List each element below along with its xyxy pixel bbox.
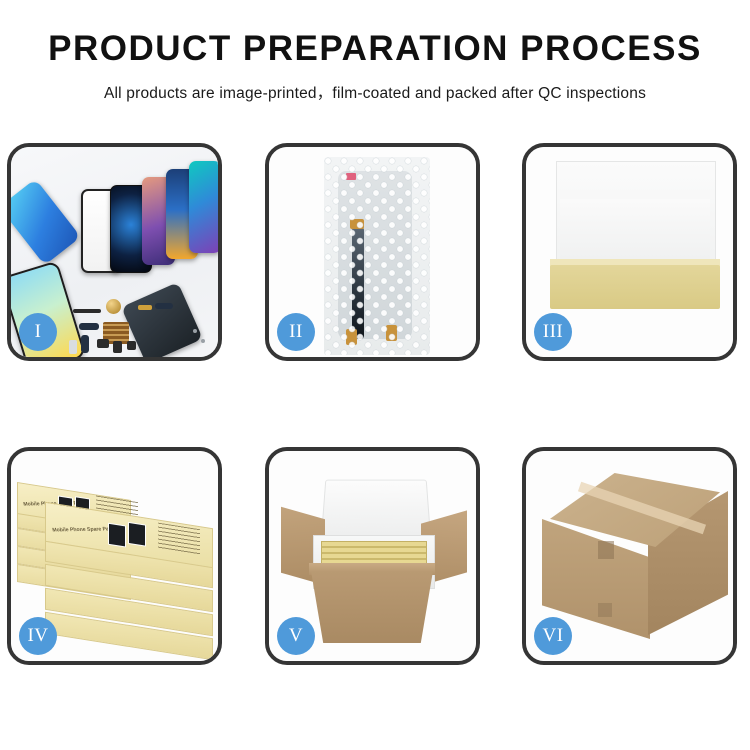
carton-body (311, 571, 433, 643)
sealed-carton (542, 473, 728, 641)
part-sim-tray-icon (69, 340, 77, 354)
step-6-image: VI (526, 451, 733, 661)
step-2-image: II (269, 147, 476, 357)
step-badge-2: II (277, 313, 315, 351)
kraft-box-tray (550, 265, 720, 309)
part-coin-icon (106, 299, 121, 314)
foam-box-lid (320, 480, 431, 544)
bubble-wrap-bag (324, 157, 430, 355)
page-title: PRODUCT PREPARATION PROCESS (0, 30, 750, 69)
part-connector-icon (81, 335, 89, 353)
product-preparation-infographic: PRODUCT PREPARATION PROCESS All products… (0, 0, 750, 750)
page-subtitle: All products are image-printed，film-coat… (0, 81, 750, 103)
step-panel-5: V (265, 447, 480, 665)
part-screw-icon (193, 329, 197, 333)
part-flex-cable-icon (155, 303, 173, 309)
step-panel-3: III (522, 143, 737, 361)
step-badge-5: V (277, 617, 315, 655)
step-panel-1: I (7, 143, 222, 361)
part-bracket-icon (138, 305, 152, 310)
box-window-right-a (108, 523, 126, 548)
steps-row-1: I II (0, 143, 750, 363)
part-sensor-icon (127, 341, 136, 350)
phone-screen-teal-icon (189, 161, 218, 253)
carton-corner-tab-bottom (598, 603, 612, 617)
step-4-image: Mobile Phone Spare Parts Mobile Phone Sp… (11, 451, 218, 661)
part-camera-icon (113, 341, 122, 353)
part-flex-small-icon (79, 323, 99, 330)
box-window-right-b (128, 522, 146, 547)
box-label-right: Mobile Phone Spare Parts (52, 526, 116, 533)
bubble-texture (324, 157, 430, 355)
carton-corner-tab-top (598, 541, 614, 559)
step-3-image: III (526, 147, 733, 357)
step-panel-4: Mobile Phone Spare Parts Mobile Phone Sp… (7, 447, 222, 665)
steps-row-2: Mobile Phone Spare Parts Mobile Phone Sp… (0, 447, 750, 667)
step-1-image: I (11, 147, 218, 357)
step-5-image: V (269, 451, 476, 661)
part-speaker-icon (73, 309, 101, 313)
part-screw-2-icon (201, 339, 205, 343)
part-button-icon (97, 339, 109, 348)
box-spec-lines-right (158, 523, 200, 556)
step-badge-3: III (534, 313, 572, 351)
step-badge-6: VI (534, 617, 572, 655)
step-panel-2: II (265, 143, 480, 361)
step-panel-6: VI (522, 447, 737, 665)
step-badge-4: IV (19, 617, 57, 655)
header: PRODUCT PREPARATION PROCESS All products… (0, 0, 750, 103)
box-foam-sheet (560, 199, 710, 265)
step-badge-1: I (19, 313, 57, 351)
